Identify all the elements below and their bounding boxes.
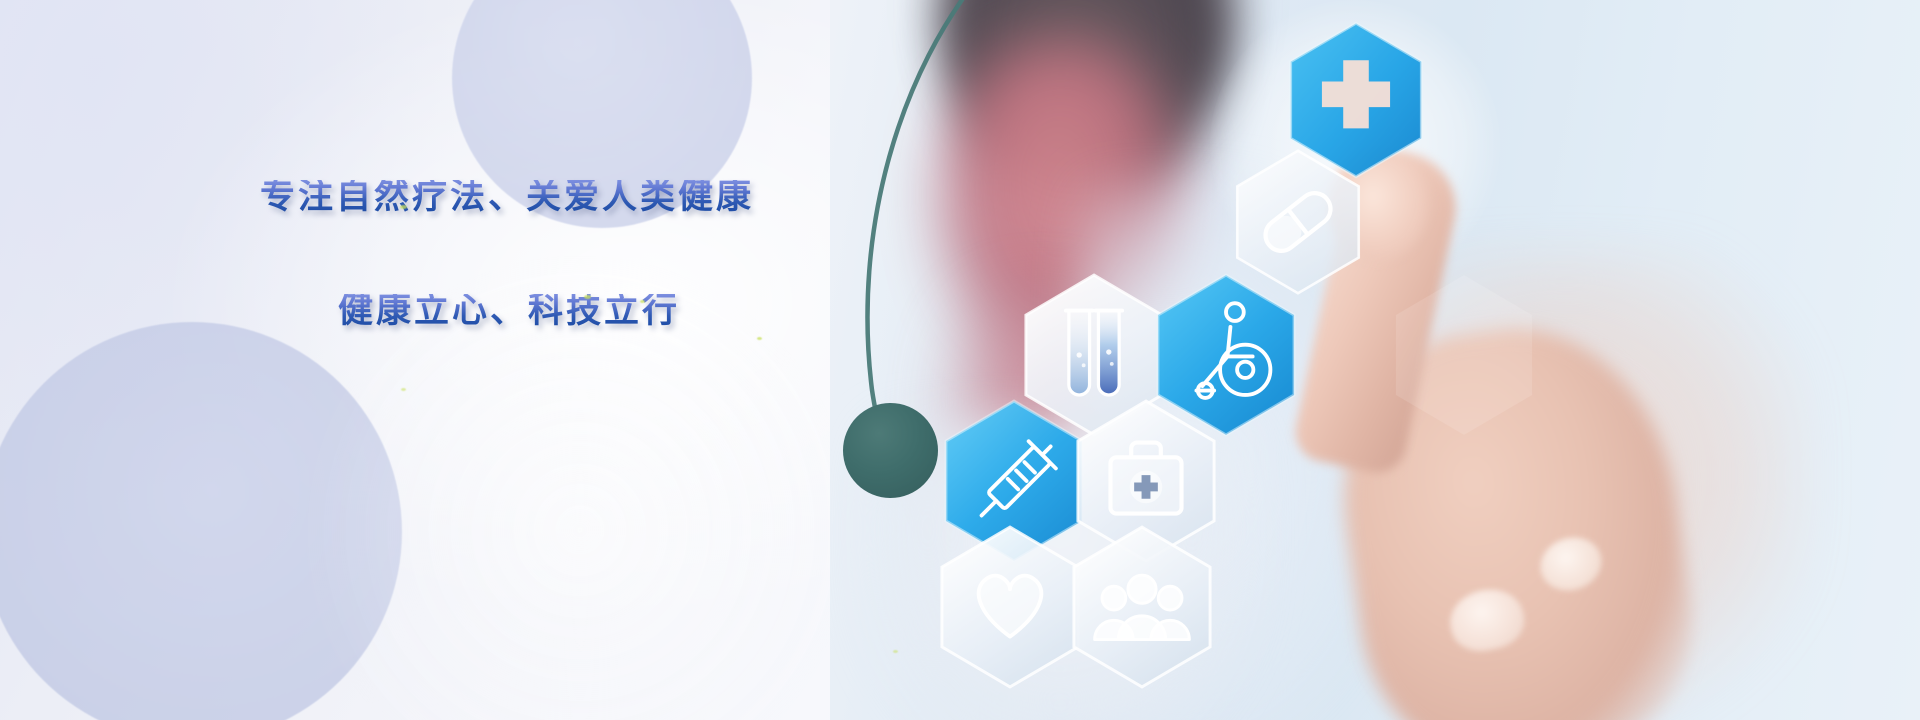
banner-copy: 专注自然疗法、关爱人类健康 健康立心、科技立行 (260, 180, 880, 329)
headline-line-1: 专注自然疗法、关爱人类健康 (260, 180, 880, 215)
sparkle-2 (584, 295, 591, 299)
sparkle-1 (400, 205, 407, 209)
teal-arc-endpoint-dot (843, 403, 938, 498)
sparkle-3 (640, 300, 645, 303)
index-fingertip (1328, 150, 1428, 260)
doctor-photo (830, 0, 1920, 720)
headline-line-2: 健康立心、科技立行 (338, 294, 880, 329)
sparkle-4 (757, 337, 762, 340)
sparkle-5 (401, 388, 406, 391)
pointing-hand (830, 0, 1920, 720)
sparkle-6 (893, 650, 898, 653)
health-banner: 专注自然疗法、关爱人类健康 健康立心、科技立行 (0, 0, 1920, 720)
